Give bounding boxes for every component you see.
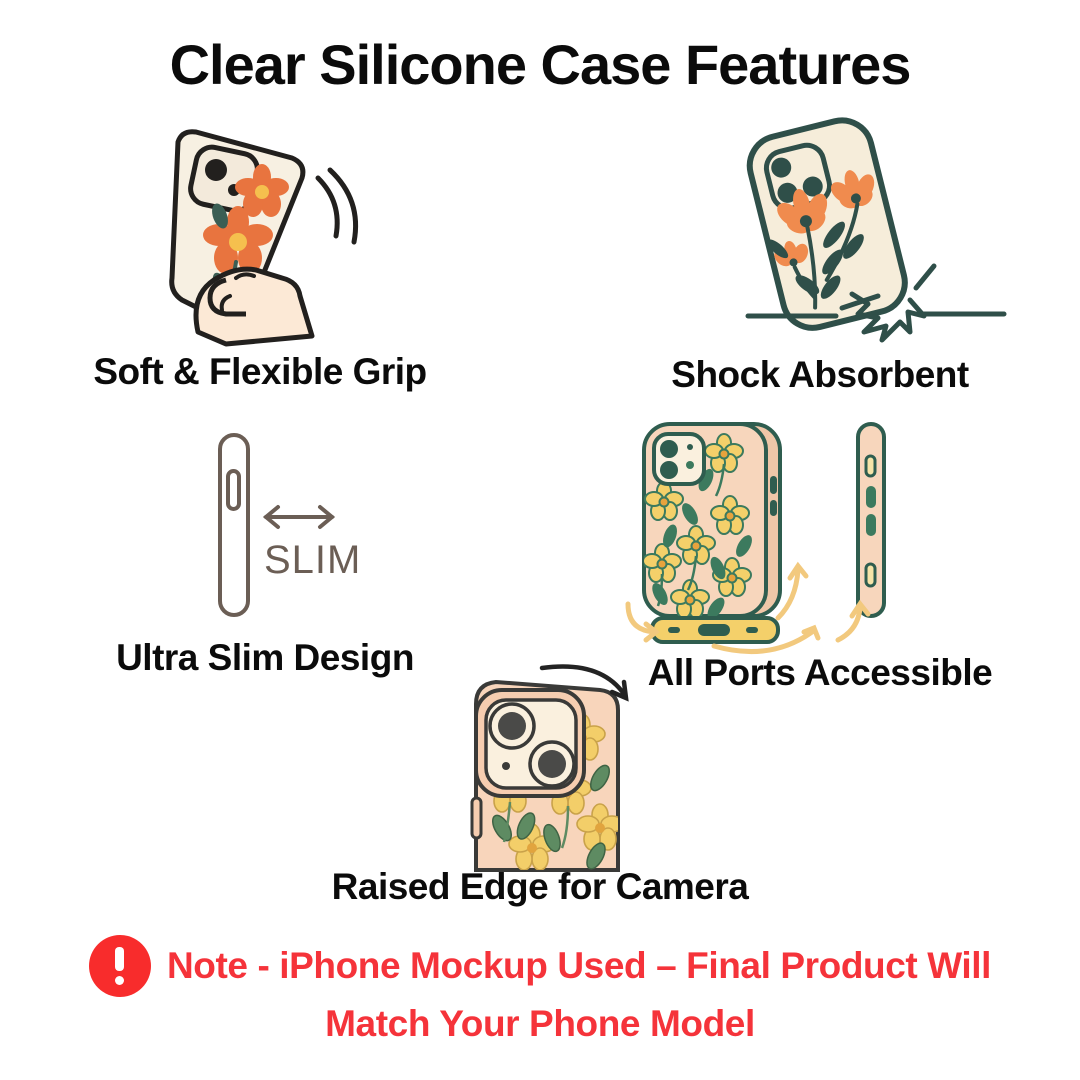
camera-bump <box>654 434 704 484</box>
camera-lens-2 <box>538 750 566 778</box>
mute-switch-cutout <box>866 456 875 476</box>
note-banner: Note - iPhone Mockup Used – Final Produc… <box>0 935 1080 1045</box>
case-body <box>743 114 911 334</box>
charging-port-cutout <box>698 624 730 636</box>
exclamation-mark <box>115 947 124 985</box>
feature-raised-edge-camera: Raised Edge for Camera <box>300 660 780 908</box>
camera-lens-1 <box>660 440 678 458</box>
note-first-line: Note - iPhone Mockup Used – Final Produc… <box>89 935 991 997</box>
motion-arc-1 <box>318 178 337 236</box>
volume-up-cutout <box>866 486 876 508</box>
camera-flash <box>502 762 510 770</box>
illustration-ports-access <box>620 418 1020 650</box>
camera-lens-main <box>205 159 227 181</box>
volume-down-cutout <box>866 514 876 536</box>
note-text-line-2: Match Your Phone Model <box>325 1003 755 1045</box>
feature-caption: Soft & Flexible Grip <box>30 351 490 393</box>
rail-cutout-1 <box>770 476 777 494</box>
camera-lens-1 <box>498 712 526 740</box>
phone-side-profile <box>220 435 248 615</box>
width-arrow <box>266 507 332 527</box>
camera-lens-2 <box>660 461 678 479</box>
camera-flash <box>687 444 693 450</box>
feature-caption: Raised Edge for Camera <box>300 866 780 908</box>
illustration-hand-flexing-case <box>30 120 490 345</box>
speaker-hole-left <box>668 627 680 633</box>
rail-cutout-2 <box>770 500 777 516</box>
feature-shock-absorbent: Shock Absorbent <box>600 118 1040 396</box>
power-button-cutout <box>866 564 875 586</box>
infographic-page: Clear Silicone Case Features <box>0 0 1080 1080</box>
speaker-hole-right <box>746 627 758 633</box>
impact-ray-up <box>916 266 934 288</box>
feature-soft-flexible-grip: Soft & Flexible Grip <box>30 120 490 393</box>
illustration-slim-profile: SLIM <box>60 425 470 625</box>
note-text-line-1: Note - iPhone Mockup Used – Final Produc… <box>167 945 991 987</box>
side-button <box>472 798 481 838</box>
feature-all-ports-accessible: All Ports Accessible <box>620 418 1020 694</box>
camera-sensor <box>686 461 694 469</box>
side-button <box>228 471 239 509</box>
exclamation-circle-icon <box>89 935 151 997</box>
page-title: Clear Silicone Case Features <box>0 32 1080 97</box>
feature-caption: Shock Absorbent <box>600 354 1040 396</box>
slim-label: SLIM <box>264 538 361 582</box>
illustration-raised-camera-edge <box>300 660 780 860</box>
illustration-shock-impact <box>600 118 1040 346</box>
feature-ultra-slim-design: SLIM Ultra Slim Design <box>60 425 470 679</box>
